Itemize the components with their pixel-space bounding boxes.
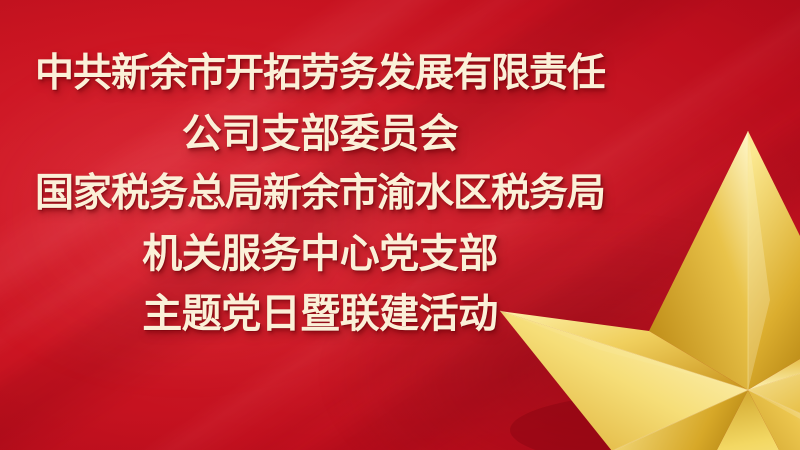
- headline-line-5: 主题党日暨联建活动: [0, 284, 640, 344]
- headline-line-2: 公司支部委员会: [0, 104, 640, 164]
- headline-line-3: 国家税务总局新余市渝水区税务局: [0, 164, 640, 224]
- poster-headline-block: 中共新余市开拓劳务发展有限责任 公司支部委员会 国家税务总局新余市渝水区税务局 …: [0, 44, 640, 344]
- headline-line-1: 中共新余市开拓劳务发展有限责任: [0, 44, 640, 104]
- poster-canvas: 中共新余市开拓劳务发展有限责任 公司支部委员会 国家税务总局新余市渝水区税务局 …: [0, 0, 800, 450]
- headline-line-4: 机关服务中心党支部: [0, 224, 640, 284]
